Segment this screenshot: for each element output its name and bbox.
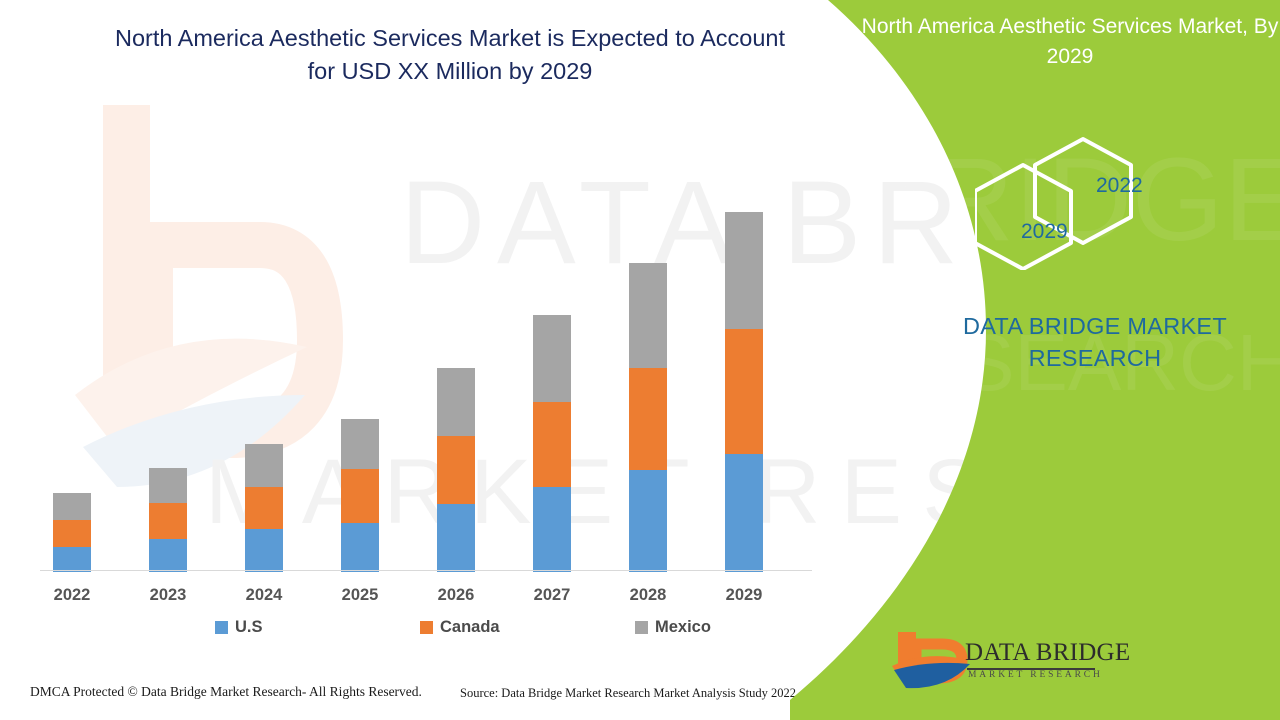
bar-segment <box>437 436 475 504</box>
legend-item-canada[interactable]: Canada <box>420 618 500 637</box>
bar-group <box>149 468 187 572</box>
bar-segment <box>533 487 571 572</box>
bar-segment <box>341 419 379 469</box>
bar-segment <box>53 520 91 547</box>
hexagon-label-2022: 2022 <box>1096 174 1143 198</box>
bar-segment <box>629 470 667 572</box>
x-axis-label: 2027 <box>522 586 582 605</box>
bar-segment <box>149 503 187 539</box>
legend-swatch-icon <box>635 621 648 634</box>
x-axis-line <box>40 570 812 571</box>
bar-segment <box>437 504 475 572</box>
dmca-notice: DMCA Protected © Data Bridge Market Rese… <box>30 684 422 700</box>
legend-swatch-icon <box>420 621 433 634</box>
x-axis-label: 2022 <box>42 586 102 605</box>
bar-group <box>533 315 571 572</box>
bar-segment <box>341 469 379 523</box>
source-note: Source: Data Bridge Market Research Mark… <box>460 686 796 701</box>
bar-group <box>629 263 667 572</box>
bar-segment <box>533 402 571 487</box>
chart-title: North America Aesthetic Services Market … <box>110 22 790 89</box>
bar-group <box>53 493 91 572</box>
logo-wordmark: DATA BRIDGE <box>965 639 1130 667</box>
bar-segment <box>725 454 763 572</box>
chart-legend: U.SCanadaMexico <box>40 618 830 642</box>
bar-segment <box>245 487 283 529</box>
x-axis-labels: 20222023202420252026202720282029 <box>40 586 830 612</box>
legend-label: U.S <box>235 618 263 637</box>
legend-item-us[interactable]: U.S <box>215 618 263 637</box>
bar-segment <box>53 547 91 572</box>
logo-subtitle: MARKET RESEARCH <box>968 670 1103 680</box>
x-axis-label: 2026 <box>426 586 486 605</box>
bar-group <box>341 419 379 572</box>
bar-segment <box>149 468 187 503</box>
bar-segment <box>341 523 379 572</box>
bar-group <box>245 444 283 572</box>
hexagon-label-2029: 2029 <box>1021 220 1068 244</box>
legend-label: Canada <box>440 618 500 637</box>
bar-segment <box>149 539 187 572</box>
legend-item-mexico[interactable]: Mexico <box>635 618 711 637</box>
brand-name: DATA BRIDGE MARKET RESEARCH <box>930 310 1260 375</box>
bar-segment <box>245 529 283 572</box>
bar-segment <box>629 368 667 470</box>
hexagon-2029-shape <box>975 165 1071 269</box>
bar-segment <box>245 444 283 487</box>
x-axis-label: 2024 <box>234 586 294 605</box>
panel-title: North America Aesthetic Services Market,… <box>860 12 1280 73</box>
stacked-bar-chart <box>40 100 830 572</box>
x-axis-label: 2023 <box>138 586 198 605</box>
bar-segment <box>437 368 475 436</box>
bar-segment <box>725 329 763 454</box>
bar-segment <box>53 493 91 520</box>
bar-group <box>725 212 763 572</box>
x-axis-label: 2028 <box>618 586 678 605</box>
bar-segment <box>725 212 763 329</box>
bar-segment <box>533 315 571 402</box>
bar-group <box>437 368 475 572</box>
infographic-canvas: DATA BRIDGE MARKET RESEARCH North Americ… <box>0 0 1280 720</box>
x-axis-label: 2029 <box>714 586 774 605</box>
legend-label: Mexico <box>655 618 711 637</box>
bar-segment <box>629 263 667 368</box>
x-axis-label: 2025 <box>330 586 390 605</box>
hexagon-pair <box>975 135 1175 270</box>
legend-swatch-icon <box>215 621 228 634</box>
